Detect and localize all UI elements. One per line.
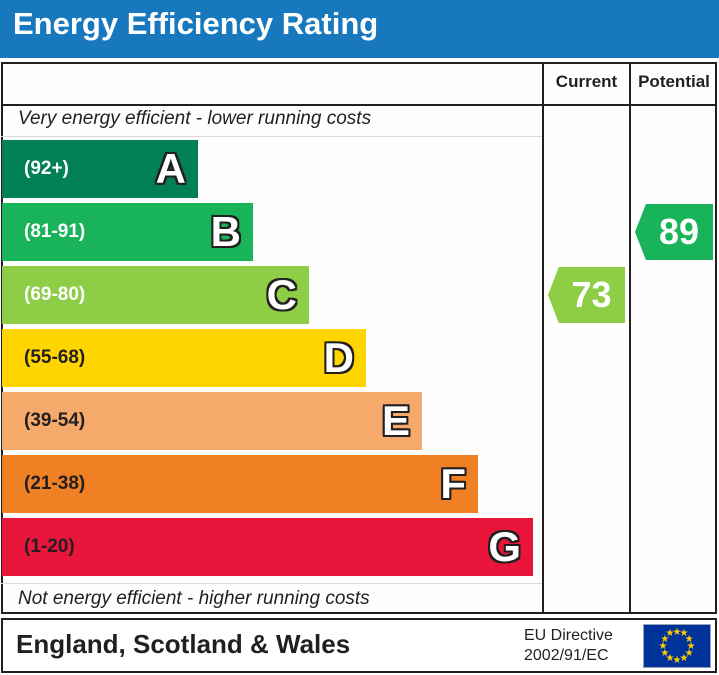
eu-flag-star-icon: ★ <box>666 629 675 638</box>
caption-bottom-divider <box>1 583 542 584</box>
rating-value-current: 73 <box>561 277 611 313</box>
energy-efficiency-rating-chart: Energy Efficiency Rating Current Potenti… <box>0 0 719 675</box>
footer-directive-line2: 2002/91/EC <box>524 646 613 666</box>
band-letter-label: F <box>440 463 466 505</box>
band-range-label: (69-80) <box>24 284 85 306</box>
footer-directive-line1: EU Directive <box>524 626 613 646</box>
rating-band-c: (69-80)C <box>2 266 309 324</box>
band-range-label: (21-38) <box>24 473 85 495</box>
column-header-current: Current <box>544 72 629 92</box>
caption-bottom: Not energy efficient - higher running co… <box>18 588 370 610</box>
band-letter-label: C <box>267 274 297 316</box>
current-column-divider <box>542 62 544 614</box>
band-letter-label: G <box>488 526 521 568</box>
band-range-label: (39-54) <box>24 410 85 432</box>
chart-header-banner: Energy Efficiency Rating <box>0 0 719 58</box>
column-header-potential: Potential <box>631 72 717 92</box>
rating-arrow-current: 73 <box>548 267 625 323</box>
rating-arrow-potential: 89 <box>635 204 713 260</box>
rating-band-e: (39-54)E <box>2 392 422 450</box>
caption-top-divider <box>1 136 542 137</box>
band-letter-label: D <box>324 337 354 379</box>
potential-column-divider <box>629 62 631 614</box>
band-letter-label: E <box>382 400 410 442</box>
rating-band-a: (92+)A <box>2 140 198 198</box>
rating-value-potential: 89 <box>649 214 699 250</box>
band-range-label: (92+) <box>24 158 69 180</box>
band-range-label: (55-68) <box>24 347 85 369</box>
rating-band-d: (55-68)D <box>2 329 366 387</box>
band-letter-label: A <box>156 148 186 190</box>
eu-flag-icon: ★★★★★★★★★★★★ <box>643 624 711 668</box>
band-range-label: (1-20) <box>24 536 75 558</box>
band-letter-label: B <box>211 211 241 253</box>
footer-region-label: England, Scotland & Wales <box>16 629 350 660</box>
caption-top: Very energy efficient - lower running co… <box>18 108 371 130</box>
footer-directive-label: EU Directive 2002/91/EC <box>524 626 613 666</box>
page-title: Energy Efficiency Rating <box>13 6 378 42</box>
rating-band-b: (81-91)B <box>2 203 253 261</box>
column-header-divider <box>1 104 717 106</box>
rating-band-f: (21-38)F <box>2 455 478 513</box>
rating-band-g: (1-20)G <box>2 518 533 576</box>
band-range-label: (81-91) <box>24 221 85 243</box>
